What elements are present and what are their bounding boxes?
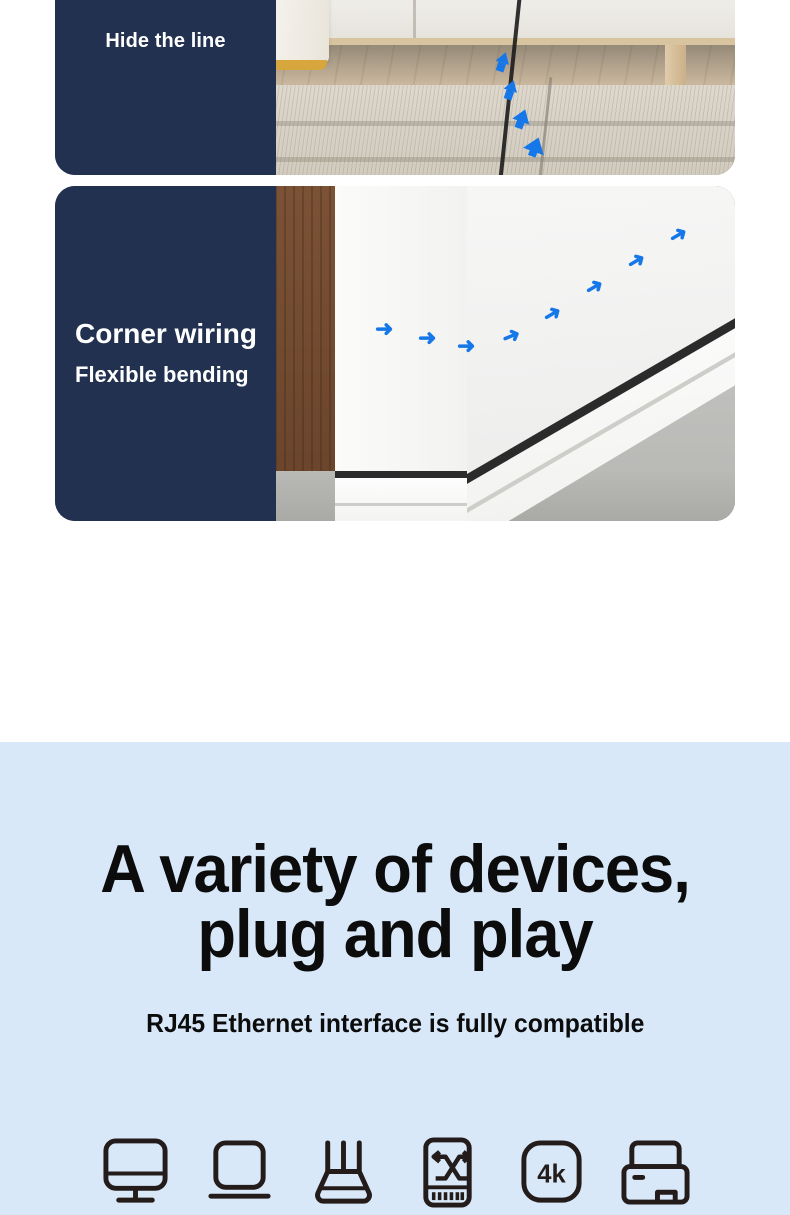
corner-wiring-caption: Corner wiring Flexible bending <box>55 186 276 521</box>
laptop-icon <box>204 1135 275 1210</box>
card-subtitle: Flexible bending <box>75 362 249 388</box>
monitor-icon <box>100 1135 171 1210</box>
arrow-icon: ➜ <box>375 318 393 340</box>
devices-subheading: RJ45 Ethernet interface is fully compati… <box>146 1008 644 1039</box>
card-title: Corner wiring <box>75 319 257 348</box>
hide-the-line-photo <box>275 0 735 175</box>
devices-heading-line2: plug and play <box>197 896 592 972</box>
device-icons-row: 4k <box>0 1135 790 1210</box>
devices-section: A variety of devices, plug and play RJ45… <box>0 742 790 1215</box>
card-title: Hide the line <box>105 30 225 53</box>
feature-card-hide-the-line[interactable]: Hide the line <box>55 0 735 175</box>
arrow-icon: ➜ <box>418 327 436 349</box>
printer-icon <box>620 1135 691 1210</box>
4k-tv-icon: 4k <box>516 1135 587 1210</box>
feature-cards-section: Hide the line ➜ ➜ ➜ ➜ ➜ ➜ ➜ ➜ Corner wir… <box>55 0 735 521</box>
switch-icon <box>412 1135 483 1210</box>
devices-heading: A variety of devices, plug and play <box>100 837 690 968</box>
feature-card-corner-wiring[interactable]: ➜ ➜ ➜ ➜ ➜ ➜ ➜ ➜ Corner wiring Flexible b… <box>55 186 735 521</box>
corner-wiring-photo: ➜ ➜ ➜ ➜ ➜ ➜ ➜ ➜ <box>275 186 735 521</box>
router-icon <box>308 1135 379 1210</box>
4k-label: 4k <box>537 1160 566 1188</box>
arrow-icon: ➜ <box>457 335 475 357</box>
hide-the-line-caption: Hide the line <box>55 0 276 175</box>
